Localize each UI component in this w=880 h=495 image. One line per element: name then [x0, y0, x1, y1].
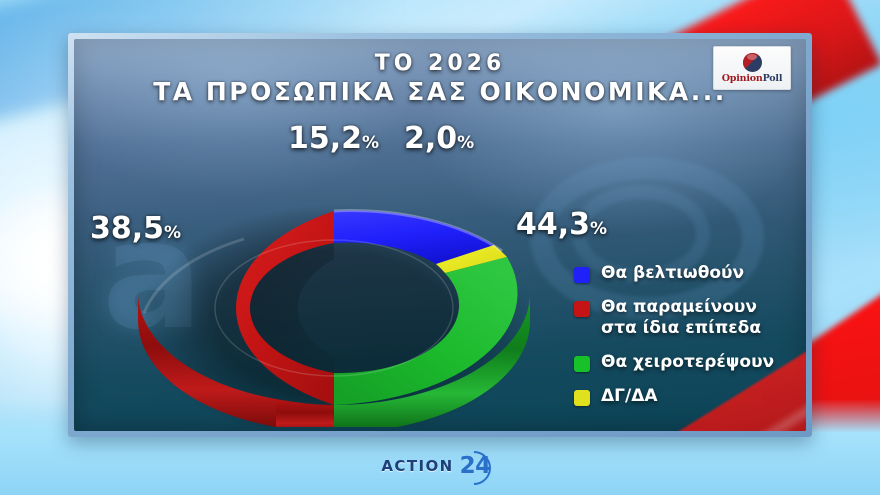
chart-legend: Θα βελτιωθούν Θα παραμείνουν στα ίδια επ…: [574, 263, 806, 420]
legend-label-same-line1: Θα παραμείνουν: [601, 297, 761, 318]
legend-item-dk: ΔΓ/ΔΑ: [574, 386, 806, 407]
legend-label-worse: Θα χειροτερέψουν: [601, 352, 774, 373]
chart-panel-inner: a ΤΟ 2026 ΤΑ ΠΡΟΣΩΠΙΚΑ ΣΑΣ ΟΙΚΟΝΟΜΙΚΑ...…: [74, 39, 806, 431]
legend-swatch-red: [574, 301, 590, 317]
legend-label-dk: ΔΓ/ΔΑ: [601, 386, 658, 407]
page-title: ΤΟ 2026 ΤΑ ΠΡΟΣΩΠΙΚΑ ΣΑΣ ΟΙΚΟΝΟΜΙΚΑ...: [74, 51, 806, 107]
legend-swatch-green: [574, 356, 590, 372]
action24-logo: ACTION 24: [0, 451, 880, 481]
donut-chart: [116, 127, 546, 427]
legend-item-improve: Θα βελτιωθούν: [574, 263, 806, 284]
opinionpoll-logo: OpinionPoll: [713, 46, 791, 90]
opinionpoll-word-opinion: Opinion: [722, 73, 763, 84]
legend-item-worse: Θα χειροτερέψουν: [574, 352, 806, 373]
title-line-1: ΤΟ 2026: [74, 51, 806, 77]
action24-number: 24: [460, 453, 491, 479]
legend-label-same-line2: στα ίδια επίπεδα: [601, 318, 761, 339]
action24-word: ACTION: [381, 457, 453, 475]
legend-label-improve: Θα βελτιωθούν: [601, 263, 744, 284]
title-line-2: ΤΑ ΠΡΟΣΩΠΙΚΑ ΣΑΣ ΟΙΚΟΝΟΜΙΚΑ...: [74, 77, 806, 107]
chart-panel: a ΤΟ 2026 ΤΑ ΠΡΟΣΩΠΙΚΑ ΣΑΣ ΟΙΚΟΝΟΜΙΚΑ...…: [68, 33, 812, 437]
opinionpoll-wordmark: OpinionPoll: [722, 73, 783, 84]
action24-number-mark: 24: [457, 451, 499, 481]
legend-swatch-blue: [574, 267, 590, 283]
opinionpoll-word-poll: Poll: [763, 73, 783, 84]
legend-item-same: Θα παραμείνουν στα ίδια επίπεδα: [574, 297, 806, 339]
opinionpoll-mark-icon: [743, 53, 762, 72]
legend-swatch-yellow: [574, 390, 590, 406]
donut-chart-svg: [116, 127, 546, 427]
legend-label-same: Θα παραμείνουν στα ίδια επίπεδα: [601, 297, 761, 339]
